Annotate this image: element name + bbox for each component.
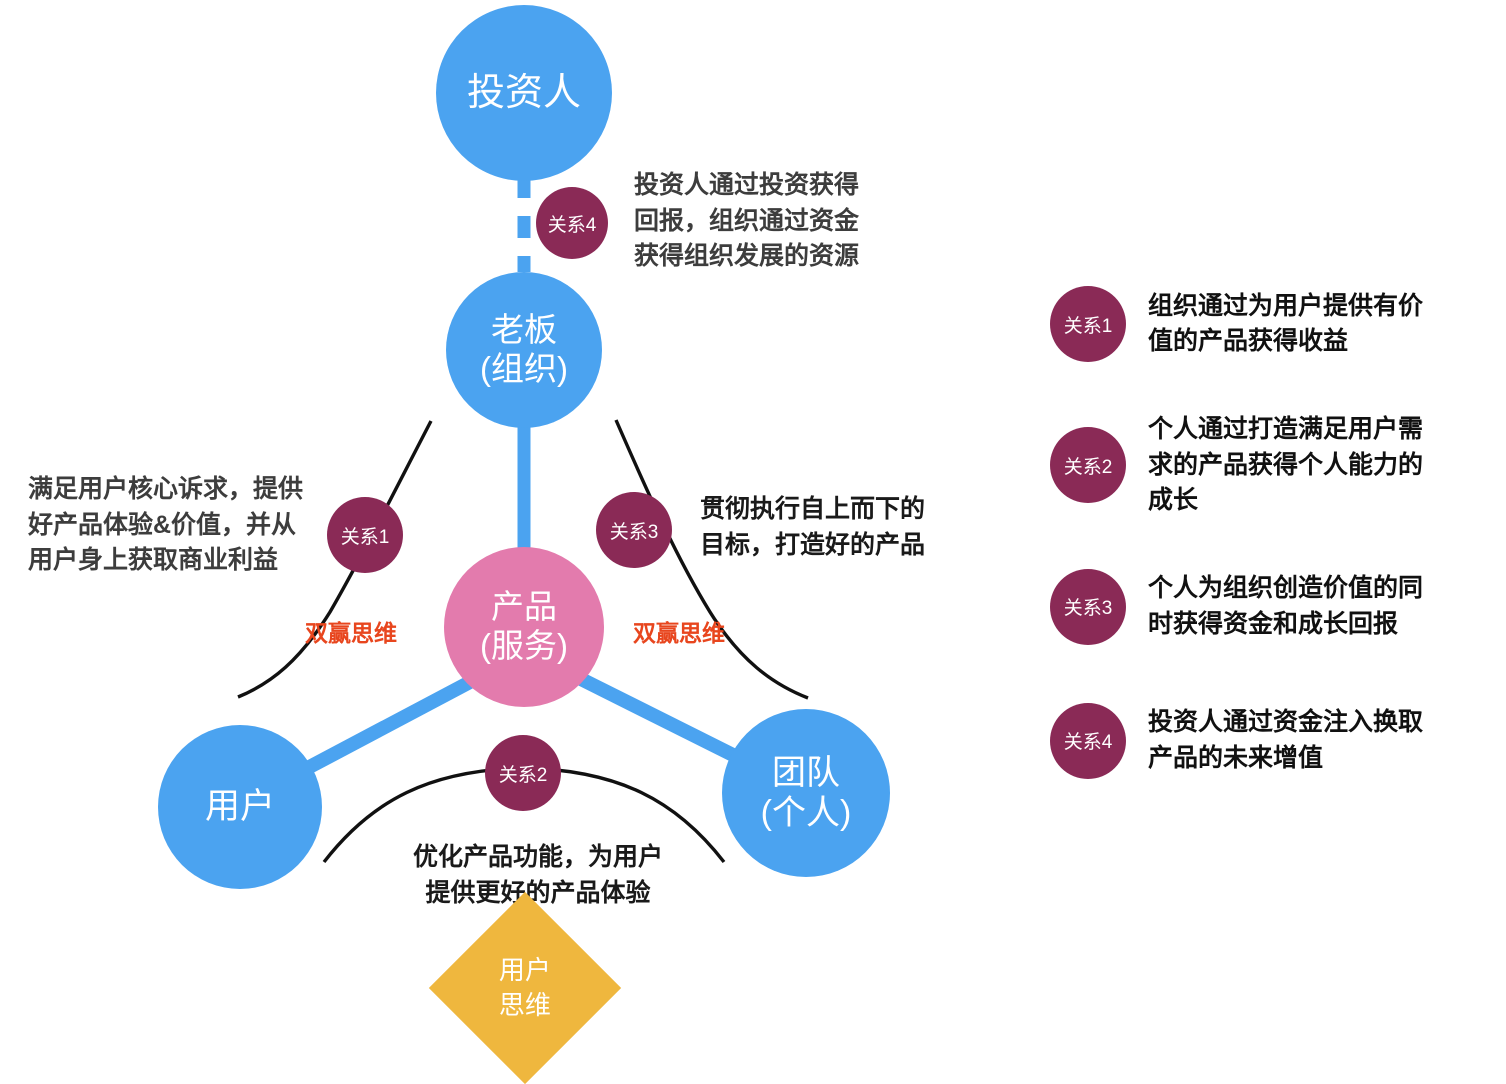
node-team-label-1: 团队 bbox=[772, 753, 840, 793]
legend-badge-relation-1: 关系1 bbox=[1050, 286, 1126, 362]
user-mindset-diamond[interactable]: 用户 思维 bbox=[429, 892, 621, 1084]
node-team-label-2: (个人) bbox=[761, 793, 852, 833]
legend-badge-relation-2: 关系2 bbox=[1050, 427, 1126, 503]
legend-text-relation-1: 组织通过为用户提供有价 值的产品获得收益 bbox=[1148, 289, 1423, 360]
node-investor[interactable]: 投资人 bbox=[436, 5, 612, 181]
legend-text-relation-3: 个人为组织创造价值的同 时获得资金和成长回报 bbox=[1148, 571, 1423, 642]
node-user[interactable]: 用户 bbox=[158, 725, 322, 889]
legend-badge-relation-4: 关系4 bbox=[1050, 703, 1126, 779]
legend-badge-relation-2-label: 关系2 bbox=[1064, 452, 1113, 479]
legend-item[interactable]: 关系1 组织通过为用户提供有价 值的产品获得收益 bbox=[1050, 278, 1490, 370]
node-product[interactable]: 产品 (服务) bbox=[444, 547, 604, 707]
badge-relation-4-label: 关系4 bbox=[548, 210, 597, 237]
annotation-relation-2: 优化产品功能，为用户 提供更好的产品体验 bbox=[388, 840, 688, 911]
legend-badge-relation-1-label: 关系1 bbox=[1064, 311, 1113, 338]
winwin-label-left: 双赢思维 bbox=[305, 614, 397, 648]
badge-relation-2-label: 关系2 bbox=[499, 760, 548, 787]
node-user-label: 用户 bbox=[205, 786, 275, 827]
annotation-relation-4: 投资人通过投资获得 回报，组织通过资金 获得组织发展的资源 bbox=[634, 168, 964, 275]
badge-relation-2[interactable]: 关系2 bbox=[485, 735, 561, 811]
legend-badge-relation-4-label: 关系4 bbox=[1064, 727, 1113, 754]
diagram-canvas: 投资人 老板 (组织) 产品 (服务) 用户 团队 (个人) 关系4 关系1 关… bbox=[0, 0, 1506, 1072]
node-boss-label-1: 老板 bbox=[491, 311, 557, 350]
node-product-label-1: 产品 bbox=[491, 588, 557, 627]
node-team[interactable]: 团队 (个人) bbox=[722, 709, 890, 877]
winwin-label-right: 双赢思维 bbox=[633, 614, 725, 648]
node-boss-label-2: (组织) bbox=[480, 350, 568, 389]
node-product-label-2: (服务) bbox=[480, 627, 568, 666]
connector-product-team bbox=[581, 679, 745, 761]
legend-text-relation-4: 投资人通过资金注入换取 产品的未来增值 bbox=[1148, 705, 1423, 776]
relations-legend: 关系1 组织通过为用户提供有价 值的产品获得收益 关系2 个人通过打造满足用户需… bbox=[1050, 278, 1490, 829]
legend-text-relation-2: 个人通过打造满足用户需 求的产品获得个人能力的 成长 bbox=[1148, 412, 1423, 519]
legend-badge-relation-3: 关系3 bbox=[1050, 569, 1126, 645]
node-investor-label: 投资人 bbox=[467, 71, 581, 116]
connector-product-user bbox=[300, 682, 470, 772]
node-boss[interactable]: 老板 (组织) bbox=[446, 272, 602, 428]
badge-relation-4[interactable]: 关系4 bbox=[536, 187, 608, 259]
legend-item[interactable]: 关系2 个人通过打造满足用户需 求的产品获得个人能力的 成长 bbox=[1050, 412, 1490, 519]
legend-item[interactable]: 关系4 投资人通过资金注入换取 产品的未来增值 bbox=[1050, 695, 1490, 787]
annotation-relation-3: 贯彻执行自上而下的 目标，打造好的产品 bbox=[700, 492, 1030, 563]
user-mindset-diamond-label: 用户 思维 bbox=[499, 953, 551, 1023]
annotation-relation-1: 满足用户核心诉求，提供 好产品体验&价值，并从 用户身上获取商业利益 bbox=[28, 472, 358, 579]
badge-relation-3-label: 关系3 bbox=[610, 517, 659, 544]
badge-relation-3[interactable]: 关系3 bbox=[596, 492, 672, 568]
legend-item[interactable]: 关系3 个人为组织创造价值的同 时获得资金和成长回报 bbox=[1050, 561, 1490, 653]
legend-badge-relation-3-label: 关系3 bbox=[1064, 593, 1113, 620]
